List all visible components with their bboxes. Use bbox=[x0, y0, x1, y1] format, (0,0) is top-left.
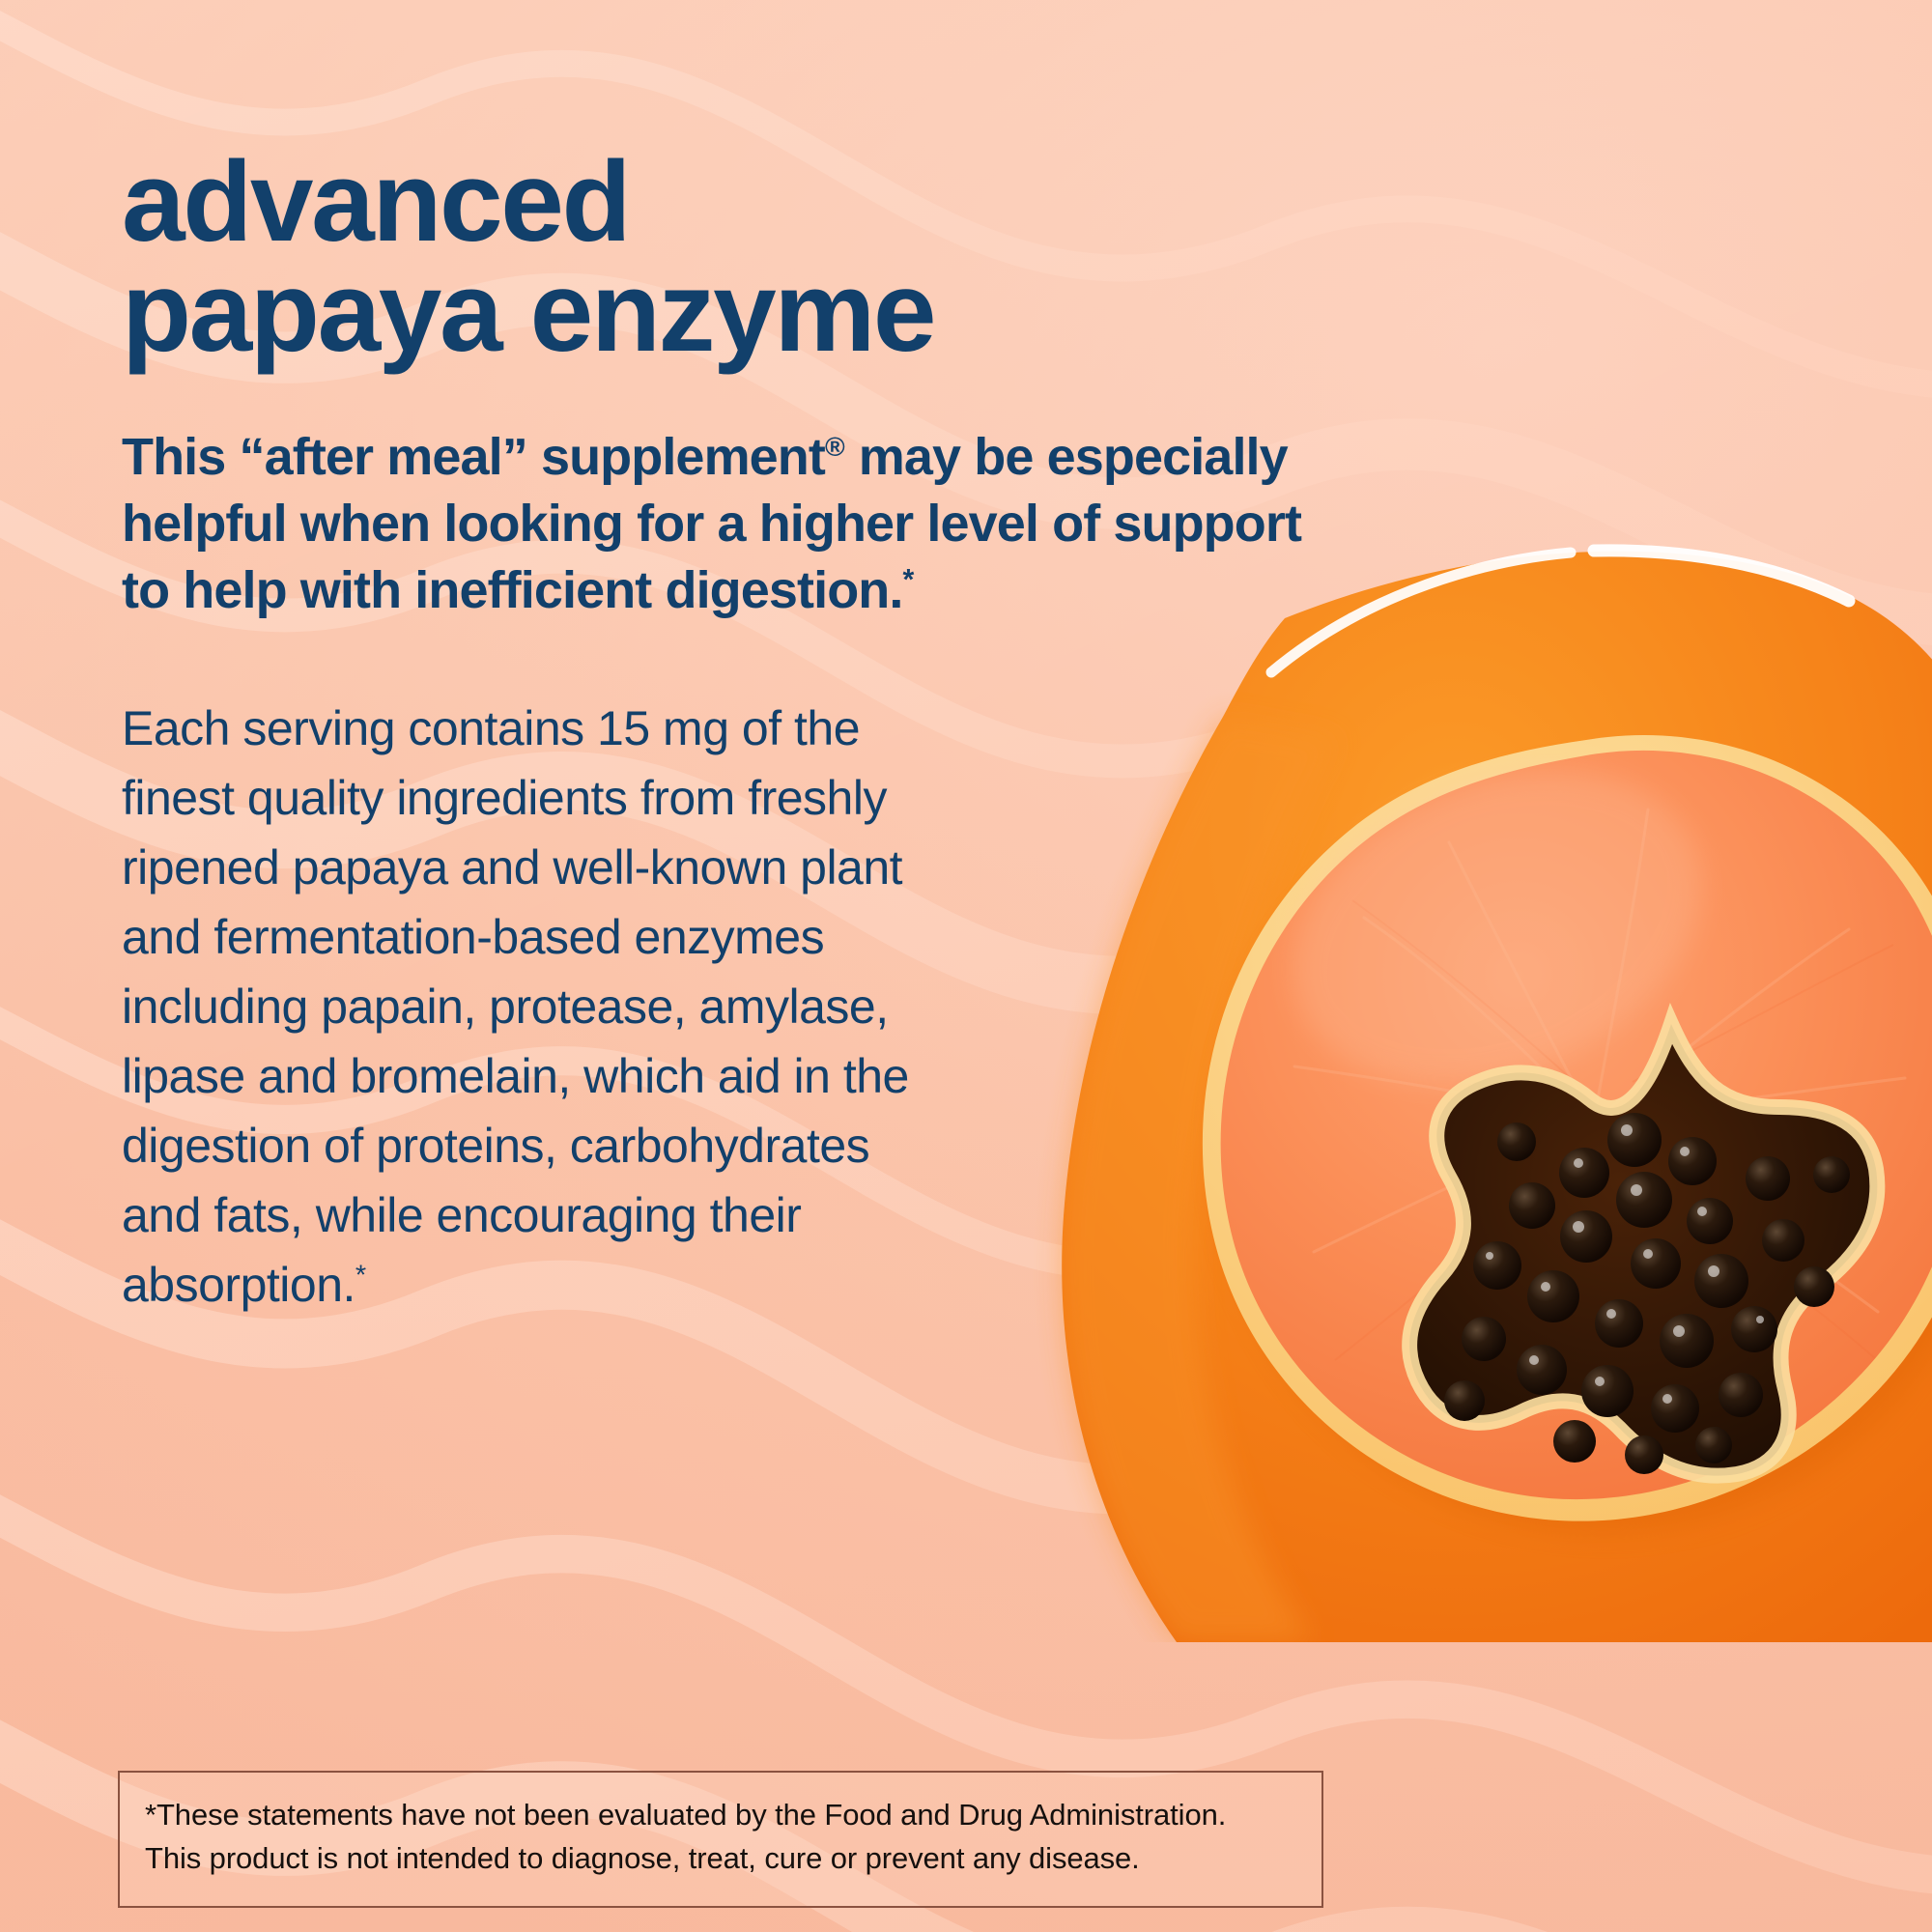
subheading-asterisk: * bbox=[902, 564, 913, 596]
product-promo-graphic: advanced papaya enzyme This “after meal”… bbox=[0, 0, 1932, 1932]
fda-disclaimer-box: *These statements have not been evaluate… bbox=[118, 1771, 1323, 1908]
headline-line-1: advanced bbox=[122, 147, 1378, 257]
body-paragraph: Each serving contains 15 mg of the fines… bbox=[122, 624, 952, 1320]
registered-trademark-symbol: ® bbox=[825, 432, 845, 462]
subheading: This “after meal” supplement® may be esp… bbox=[122, 368, 1324, 624]
body-asterisk: * bbox=[355, 1261, 366, 1292]
headline-line-2: papaya enzyme bbox=[122, 257, 1378, 367]
disclaimer-line-1: *These statements have not been evaluate… bbox=[145, 1794, 1296, 1837]
subheading-part-1: This “after meal” supplement bbox=[122, 428, 825, 486]
body-paragraph-text: Each serving contains 15 mg of the fines… bbox=[122, 701, 909, 1312]
page-title: advanced papaya enzyme bbox=[122, 0, 1378, 368]
disclaimer-line-2: This product is not intended to diagnose… bbox=[145, 1837, 1296, 1881]
content-column: advanced papaya enzyme This “after meal”… bbox=[122, 0, 1378, 1320]
